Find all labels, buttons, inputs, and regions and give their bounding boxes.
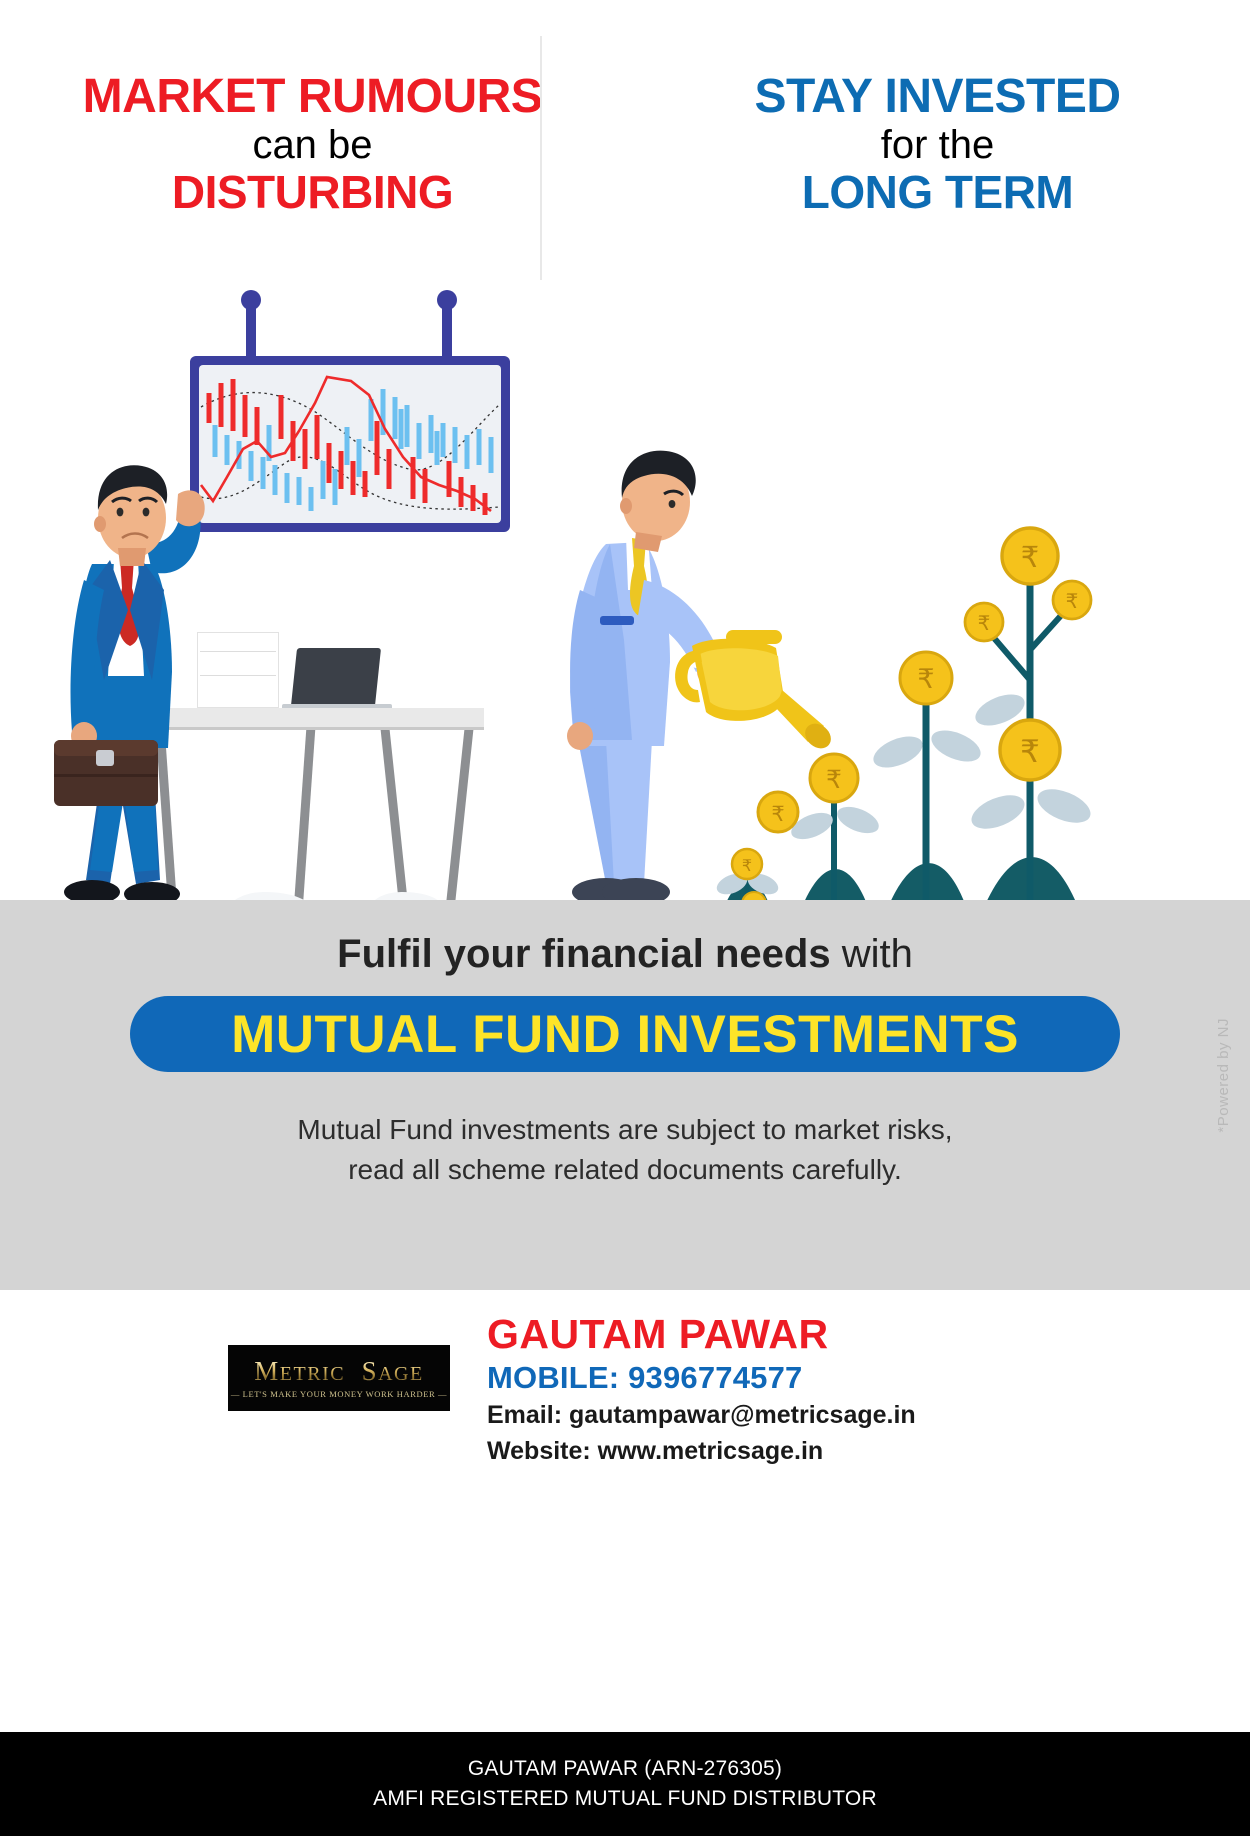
mutual-fund-pill-banner: MUTUAL FUND INVESTMENTS — [130, 996, 1120, 1072]
logo-word1-cap: M — [254, 1356, 280, 1386]
risk-disclaimer: Mutual Fund investments are subject to m… — [0, 1110, 1250, 1190]
desk-leg — [381, 730, 409, 908]
logo-wordmark: METRIC SAGE — [254, 1358, 423, 1385]
headline-left-line3: DISTURBING — [172, 168, 453, 218]
board-indicator-dots — [324, 546, 377, 554]
metric-sage-logo: METRIC SAGE — LET'S MAKE YOUR MONEY WORK… — [228, 1345, 450, 1411]
promo-lead-thin: with — [831, 932, 913, 976]
headline-area: MARKET RUMOURS can be DISTURBING STAY IN… — [0, 0, 1250, 280]
promo-band: Fulfil your financial needs with MUTUAL … — [0, 900, 1250, 1290]
svg-text:₹: ₹ — [917, 664, 934, 695]
svg-text:₹: ₹ — [1021, 540, 1039, 574]
promo-lead-line: Fulfil your financial needs with — [0, 932, 1250, 977]
svg-text:₹: ₹ — [826, 765, 842, 794]
logo-word1-rest: ETRIC — [280, 1363, 345, 1385]
footer-line-2: AMFI REGISTERED MUTUAL FUND DISTRIBUTOR — [373, 1784, 877, 1814]
promo-lead-bold: Fulfil your financial needs — [337, 932, 830, 976]
headline-right-line2: for the — [881, 122, 994, 168]
headline-right-line1: STAY INVESTED — [754, 72, 1120, 122]
disclaimer-line-2: read all scheme related documents carefu… — [0, 1150, 1250, 1190]
board-stand-right — [442, 302, 452, 362]
poster-root: MARKET RUMOURS can be DISTURBING STAY IN… — [0, 0, 1250, 1836]
laptop-screen — [291, 648, 381, 706]
contact-section: METRIC SAGE — LET'S MAKE YOUR MONEY WORK… — [0, 1290, 1250, 1530]
svg-text:₹: ₹ — [1020, 734, 1040, 770]
advisor-website[interactable]: Website: www.metricsage.in — [487, 1434, 916, 1470]
disclaimer-line-1: Mutual Fund investments are subject to m… — [0, 1110, 1250, 1150]
svg-text:₹: ₹ — [771, 802, 784, 826]
headline-right-line3: LONG TERM — [802, 168, 1073, 218]
illustration-stage: ₹ ₹ ₹ ₹ — [0, 280, 1250, 900]
desk-leg — [446, 730, 474, 908]
contact-details: GAUTAM PAWAR MOBILE: 9396774577 Email: g… — [487, 1312, 916, 1469]
svg-text:₹: ₹ — [742, 856, 752, 875]
svg-text:₹: ₹ — [978, 611, 991, 635]
board-stand-left — [246, 302, 256, 362]
logo-tagline: — LET'S MAKE YOUR MONEY WORK HARDER — — [231, 1389, 447, 1399]
headline-right: STAY INVESTED for the LONG TERM — [625, 0, 1250, 280]
advisor-email[interactable]: Email: gautampawar@metricsage.in — [487, 1398, 916, 1434]
desk-leg — [294, 730, 315, 908]
money-plants-illustration: ₹ ₹ ₹ ₹ — [700, 460, 1100, 930]
headline-left-line2: can be — [252, 122, 372, 168]
logo-word2-rest: AGE — [378, 1363, 424, 1385]
headline-left-line1: MARKET RUMOURS — [83, 72, 543, 122]
footer-bar: GAUTAM PAWAR (ARN-276305) AMFI REGISTERE… — [0, 1732, 1250, 1836]
headline-left: MARKET RUMOURS can be DISTURBING — [0, 0, 625, 280]
advisor-name: GAUTAM PAWAR — [487, 1312, 916, 1358]
powered-by-label: *Powered by NJ — [1215, 1018, 1232, 1133]
pill-label: MUTUAL FUND INVESTMENTS — [231, 1004, 1019, 1065]
worried-businessman-illustration — [48, 440, 268, 930]
logo-word2-cap: S — [362, 1356, 379, 1386]
advisor-mobile[interactable]: MOBILE: 9396774577 — [487, 1358, 916, 1398]
svg-text:₹: ₹ — [1066, 589, 1079, 613]
footer-line-1: GAUTAM PAWAR (ARN-276305) — [468, 1754, 782, 1784]
